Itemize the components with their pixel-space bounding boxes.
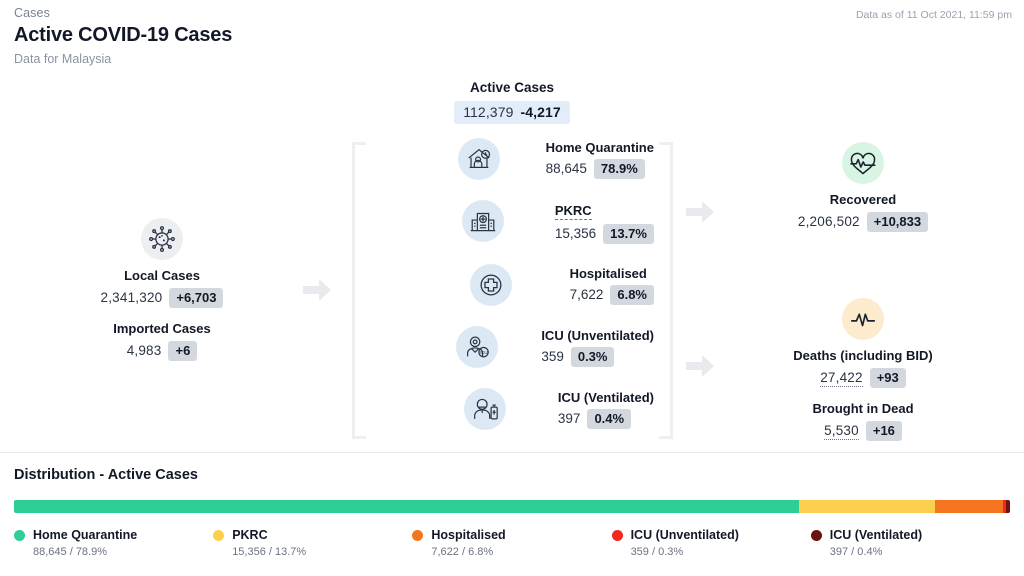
brought-in-dead-value[interactable]: 5,530 xyxy=(824,423,859,440)
dashboard-page: Cases Active COVID-19 Cases Data for Mal… xyxy=(0,0,1024,576)
breakdown-values: 3590.3% xyxy=(541,347,654,367)
icu-unventilated-icon: ICU xyxy=(456,326,498,368)
breakdown-item-icu-unventilated[interactable]: ICU ICU (Unventilated) 3590.3% xyxy=(424,326,654,368)
breakdown-item-pkrc[interactable]: PKRC 15,35613.7% xyxy=(424,200,654,244)
breakdown-label: Hospitalised xyxy=(570,266,654,281)
legend-item[interactable]: PKRC15,356 / 13.7% xyxy=(213,528,412,558)
arrow-head xyxy=(702,201,714,223)
recovered-delta: +10,833 xyxy=(867,212,928,232)
bar-segment[interactable] xyxy=(935,500,1003,513)
bar-segment[interactable] xyxy=(14,500,799,513)
legend-label: Home Quarantine xyxy=(33,528,137,542)
arrow-head xyxy=(319,279,331,301)
legend-head: ICU (Ventilated) xyxy=(811,528,1010,542)
legend-color-dot xyxy=(213,530,224,541)
legend-color-dot xyxy=(811,530,822,541)
legend-head: Home Quarantine xyxy=(14,528,213,542)
hospital-building-icon xyxy=(462,200,504,242)
arrow-breakdown-to-deaths xyxy=(686,355,714,377)
breakdown-percent: 78.9% xyxy=(594,159,645,179)
bar-segment[interactable] xyxy=(1006,500,1010,513)
legend-label: ICU (Unventilated) xyxy=(631,528,739,542)
breakdown-text: ICU (Unventilated) 3590.3% xyxy=(541,326,654,367)
svg-text:ICU: ICU xyxy=(479,350,488,355)
legend-value: 359 / 0.3% xyxy=(631,546,811,558)
recovered-value: 2,206,502 xyxy=(798,214,860,229)
breakdown-label: ICU (Ventilated) xyxy=(558,390,654,405)
local-cases-value: 2,341,320 xyxy=(101,290,163,305)
breakdown-value: 88,645 xyxy=(546,161,587,176)
deaths-group: Deaths (including BID) 27,422+93 Brought… xyxy=(772,298,954,441)
brought-in-dead-delta: +16 xyxy=(866,421,902,441)
deaths-delta: +93 xyxy=(870,368,906,388)
bar-segment[interactable] xyxy=(799,500,935,513)
legend-value: 397 / 0.4% xyxy=(830,546,1010,558)
icu-ventilated-icon xyxy=(464,388,506,430)
breakdown-item-home-quarantine[interactable]: Home Quarantine 88,64578.9% xyxy=(424,138,654,180)
arrow-shaft xyxy=(303,286,320,294)
section-divider xyxy=(0,452,1024,453)
legend-item[interactable]: Hospitalised7,622 / 6.8% xyxy=(412,528,611,558)
local-cases-label: Local Cases xyxy=(72,268,252,283)
legend-color-dot xyxy=(412,530,423,541)
active-cases-pill: 112,379-4,217 xyxy=(454,101,570,124)
cases-origin-group: Local Cases 2,341,320+6,703 Imported Cas… xyxy=(72,218,252,361)
page-header: Cases Active COVID-19 Cases Data for Mal… xyxy=(14,6,232,66)
home-quarantine-icon xyxy=(458,138,500,180)
breakdown-percent: 6.8% xyxy=(610,285,654,305)
medical-cross-icon xyxy=(470,264,512,306)
local-cases-row: 2,341,320+6,703 xyxy=(72,288,252,308)
legend-label: ICU (Ventilated) xyxy=(830,528,922,542)
page-subtitle: Data for Malaysia xyxy=(14,52,232,66)
breakdown-item-icu-ventilated[interactable]: ICU (Ventilated) 3970.4% xyxy=(424,388,654,430)
breakdown-value: 15,356 xyxy=(555,226,596,241)
legend-item[interactable]: ICU (Ventilated)397 / 0.4% xyxy=(811,528,1010,558)
breakdown-label[interactable]: PKRC xyxy=(555,203,592,220)
arrow-breakdown-to-recovered xyxy=(686,201,714,223)
flatline-pulse-icon xyxy=(842,298,884,340)
legend-label: PKRC xyxy=(232,528,267,542)
breakdown-label: Home Quarantine xyxy=(546,140,654,155)
breakdown-value: 7,622 xyxy=(570,287,604,302)
distribution-stacked-bar[interactable] xyxy=(14,500,1010,513)
deaths-label: Deaths (including BID) xyxy=(772,348,954,363)
active-cases-delta: -4,217 xyxy=(520,104,560,120)
legend-value: 15,356 / 13.7% xyxy=(232,546,412,558)
breakdown-text: PKRC 15,35613.7% xyxy=(555,200,654,244)
page-title: Active COVID-19 Cases xyxy=(14,24,232,47)
legend-head: ICU (Unventilated) xyxy=(612,528,811,542)
recovered-row: 2,206,502+10,833 xyxy=(772,212,954,232)
legend-head: PKRC xyxy=(213,528,412,542)
legend-color-dot xyxy=(14,530,25,541)
arrow-cases-to-breakdown xyxy=(303,279,331,301)
breakdown-values: 88,64578.9% xyxy=(546,159,654,179)
breakdown-value: 397 xyxy=(558,411,581,426)
imported-cases-delta: +6 xyxy=(168,341,197,361)
active-cases-breakdown: Home Quarantine 88,64578.9% xyxy=(424,138,654,430)
breakdown-value: 359 xyxy=(541,349,564,364)
imported-cases-value: 4,983 xyxy=(127,343,162,358)
legend-value: 7,622 / 6.8% xyxy=(431,546,611,558)
breakdown-values: 3970.4% xyxy=(558,409,654,429)
legend-value: 88,645 / 78.9% xyxy=(33,546,213,558)
breakdown-text: Hospitalised 7,6226.8% xyxy=(570,264,654,305)
recovered-label: Recovered xyxy=(772,192,954,207)
breakdown-percent: 0.4% xyxy=(587,409,631,429)
imported-cases-row: 4,983+6 xyxy=(72,341,252,361)
breakdown-text: ICU (Ventilated) 3970.4% xyxy=(558,388,654,429)
local-cases-delta: +6,703 xyxy=(169,288,223,308)
breakdown-label: ICU (Unventilated) xyxy=(541,328,654,343)
breadcrumb[interactable]: Cases xyxy=(14,6,232,20)
recovered-group: Recovered 2,206,502+10,833 xyxy=(772,142,954,232)
bracket-right xyxy=(659,142,673,439)
imported-cases-label: Imported Cases xyxy=(72,321,252,336)
virus-icon xyxy=(141,218,183,260)
distribution-legend: Home Quarantine88,645 / 78.9%PKRC15,356 … xyxy=(14,528,1010,558)
brought-in-dead-row: 5,530+16 xyxy=(772,421,954,441)
breakdown-percent: 13.7% xyxy=(603,224,654,244)
breakdown-percent: 0.3% xyxy=(571,347,615,367)
arrow-shaft xyxy=(686,208,703,216)
breakdown-text: Home Quarantine 88,64578.9% xyxy=(546,138,654,179)
arrow-shaft xyxy=(686,362,703,370)
data-timestamp: Data as of 11 Oct 2021, 11:59 pm xyxy=(856,9,1012,21)
breakdown-values: 15,35613.7% xyxy=(555,224,654,244)
active-cases-summary: Active Cases 112,379-4,217 xyxy=(0,80,1024,124)
active-cases-label: Active Cases xyxy=(0,80,1024,95)
arrow-head xyxy=(702,355,714,377)
legend-item[interactable]: Home Quarantine88,645 / 78.9% xyxy=(14,528,213,558)
breakdown-item-hospitalised[interactable]: Hospitalised 7,6226.8% xyxy=(424,264,654,306)
breakdown-values: 7,6226.8% xyxy=(570,285,654,305)
legend-label: Hospitalised xyxy=(431,528,505,542)
bracket-left xyxy=(352,142,366,439)
brought-in-dead-label: Brought in Dead xyxy=(772,401,954,416)
legend-item[interactable]: ICU (Unventilated)359 / 0.3% xyxy=(612,528,811,558)
legend-color-dot xyxy=(612,530,623,541)
active-cases-value: 112,379 xyxy=(463,104,513,120)
deaths-value[interactable]: 27,422 xyxy=(820,370,863,387)
deaths-row: 27,422+93 xyxy=(772,368,954,388)
heart-pulse-icon xyxy=(842,142,884,184)
legend-head: Hospitalised xyxy=(412,528,611,542)
distribution-title: Distribution - Active Cases xyxy=(14,467,198,483)
